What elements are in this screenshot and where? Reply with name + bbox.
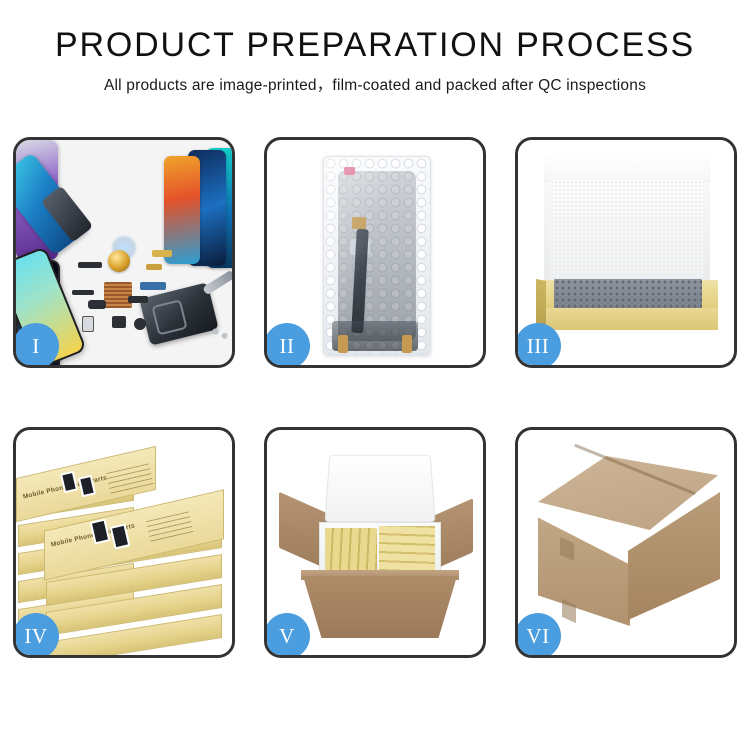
process-steps-grid: I II III [13, 137, 737, 658]
spare-part [128, 296, 148, 303]
copper-pad-part [104, 282, 132, 308]
step-panel-1: I [13, 137, 235, 368]
step-badge-2: II [264, 323, 310, 368]
step-panel-5: V [264, 427, 486, 658]
step-badge-3: III [515, 323, 561, 368]
carton-left-face [538, 508, 630, 626]
page-header: PRODUCT PREPARATION PROCESS All products… [0, 0, 750, 95]
wrapped-screen-assembly [338, 171, 416, 341]
pink-label [344, 167, 355, 175]
connector-part [338, 335, 348, 353]
spare-part [78, 262, 102, 268]
flex-cable-part [140, 282, 166, 290]
white-foam-liner [550, 180, 704, 280]
spare-part [88, 300, 106, 309]
spare-part [72, 290, 94, 295]
step-panel-3: III [515, 137, 737, 368]
phone-screen-orange [164, 156, 200, 264]
spare-part [146, 264, 162, 270]
spare-part [134, 318, 146, 330]
step-panel-6: VI [515, 427, 737, 658]
step-badge-5: V [264, 613, 310, 658]
carton-front-panel [303, 576, 457, 638]
connector-part [352, 217, 366, 229]
page-title: PRODUCT PREPARATION PROCESS [0, 28, 750, 64]
foam-lid [325, 455, 436, 522]
spare-part [152, 250, 172, 257]
spare-part [112, 316, 126, 328]
box-stack: Mobile Phone Spare Parts Mobile Phone Sp… [16, 444, 232, 644]
page-subtitle: All products are image-printed，film-coat… [0, 73, 750, 95]
bubble-wrap-pack [323, 156, 431, 356]
grey-foam-insert [554, 279, 702, 309]
yellow-box-front [536, 308, 718, 330]
step-panel-4: Mobile Phone Spare Parts Mobile Phone Sp… [13, 427, 235, 658]
step-badge-6: VI [515, 613, 561, 658]
tweezers-tool [202, 270, 232, 296]
speaker-part [108, 250, 130, 272]
step-panel-2: II [264, 137, 486, 368]
screws-part [212, 326, 230, 340]
white-lid-top [544, 154, 710, 182]
spare-part [82, 316, 94, 332]
connector-part [402, 335, 412, 353]
step-badge-1: I [13, 323, 59, 368]
step-badge-4: IV [13, 613, 59, 658]
